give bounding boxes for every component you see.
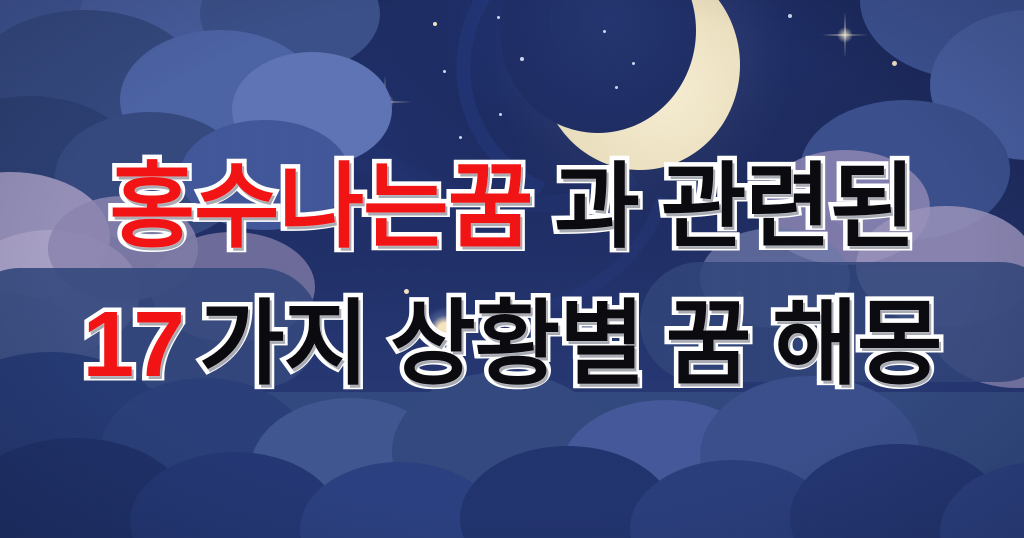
headline-particle: 과 xyxy=(554,160,639,255)
star-dot xyxy=(615,86,618,89)
headline-word: 해몽 xyxy=(772,297,941,392)
star-dot xyxy=(499,113,502,116)
star-dot xyxy=(433,22,437,26)
star-dot xyxy=(459,136,462,139)
four-point-sparkle-icon xyxy=(822,12,868,58)
headline: 홍수나는꿈과관련된 17가지상황별꿈해몽 xyxy=(0,160,1024,392)
star-dot xyxy=(497,16,500,19)
star-dot xyxy=(603,30,606,33)
headline-word: 꿈 xyxy=(666,297,751,392)
star-dot xyxy=(892,61,897,66)
headline-word: 상황별 xyxy=(390,297,644,392)
headline-line-2: 17가지상황별꿈해몽 xyxy=(0,297,1024,392)
headline-count-red: 17 xyxy=(83,297,184,392)
headline-line-1: 홍수나는꿈과관련된 xyxy=(0,160,1024,255)
thumbnail-banner: 홍수나는꿈과관련된 17가지상황별꿈해몽 xyxy=(0,0,1024,538)
crescent-moon-icon xyxy=(540,0,740,170)
star-dot xyxy=(520,57,524,61)
headline-keyword-red: 홍수나는꿈 xyxy=(109,160,532,255)
star-dot xyxy=(443,70,446,73)
star-dot xyxy=(788,14,792,18)
headline-word: 관련된 xyxy=(661,160,915,255)
headline-word: 가지 xyxy=(199,297,368,392)
star-dot xyxy=(632,62,635,65)
